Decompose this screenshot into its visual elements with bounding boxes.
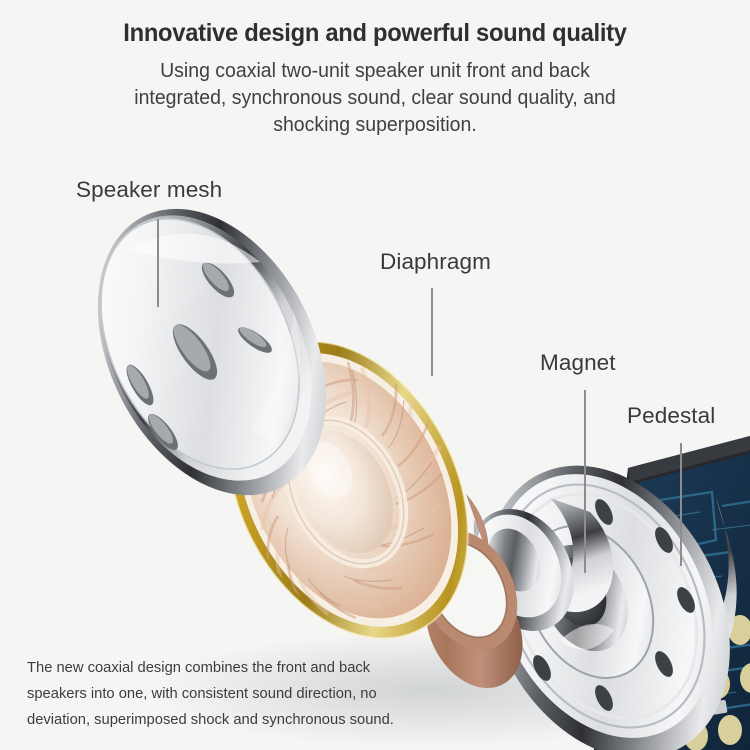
page-title: Innovative design and powerful sound qua…: [19, 20, 732, 48]
leader-line-magnet: [584, 390, 586, 573]
callout-label-pedestal: Pedestal: [627, 403, 715, 429]
callout-label-speaker-mesh: Speaker mesh: [76, 177, 222, 203]
callout-label-magnet: Magnet: [540, 350, 616, 376]
leader-line-speaker-mesh: [157, 219, 159, 307]
callout-label-diaphragm: Diaphragm: [380, 249, 491, 275]
subtitle-line-1: Using coaxial two-unit speaker unit fron…: [19, 57, 732, 84]
speaker-mesh-group: [52, 170, 372, 533]
subtitle-line-2: integrated, synchronous sound, clear sou…: [19, 84, 732, 111]
caption-line-3: deviation, superimposed shock and synchr…: [27, 707, 483, 733]
subtitle-line-3: shocking superposition.: [19, 111, 732, 138]
page-subtitle: Using coaxial two-unit speaker unit fron…: [19, 57, 732, 138]
pedestal-group: [438, 424, 750, 750]
bottom-caption: The new coaxial design combines the fron…: [27, 655, 483, 733]
diaphragm-group: [180, 301, 515, 679]
caption-line-1: The new coaxial design combines the fron…: [27, 655, 483, 681]
circuit-board-group: [592, 432, 750, 750]
leader-line-diaphragm: [431, 288, 433, 376]
magnet-group: [450, 491, 613, 649]
caption-line-2: speakers into one, with consistent sound…: [27, 681, 483, 707]
header-block: Innovative design and powerful sound qua…: [0, 0, 750, 138]
leader-line-pedestal: [680, 443, 682, 566]
infographic-canvas: Innovative design and powerful sound qua…: [0, 0, 750, 750]
